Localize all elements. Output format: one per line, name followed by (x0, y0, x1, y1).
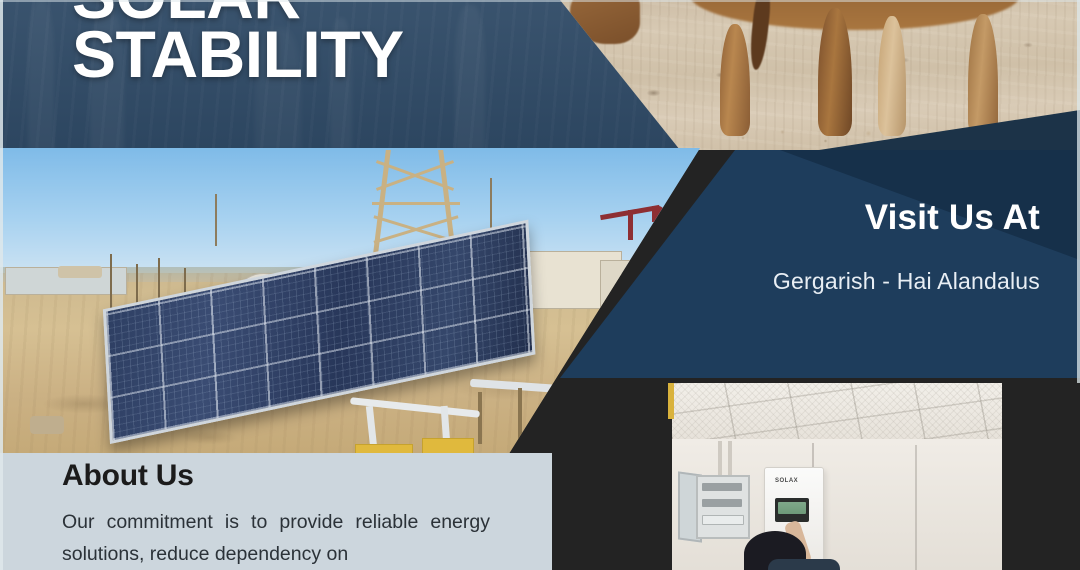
tower-brace (372, 202, 460, 205)
ground-debris (30, 416, 64, 434)
person-shoulders (768, 559, 840, 570)
frame-edge-top (0, 0, 1080, 2)
page-title: SOLAR STABILITY (72, 0, 404, 84)
wall-edge-line (915, 445, 917, 570)
visit-us-address: Gergarish - Hai Alandalus (773, 268, 1040, 295)
electrical-conduit (728, 441, 732, 477)
poster-canvas: Visit Us At Gergarish - Hai Alandalus Ab… (0, 0, 1080, 570)
panel-support-frame (350, 404, 490, 454)
inverter-display-screen (775, 498, 809, 522)
pumpjack-head (652, 206, 665, 222)
about-us-heading: About Us (62, 459, 194, 493)
visit-us-heading: Visit Us At (865, 198, 1040, 238)
ceiling-tiles (672, 383, 1002, 441)
oil-pumpjack (600, 200, 666, 240)
breaker-panel (696, 475, 750, 539)
fence-post (518, 388, 522, 440)
antenna-mast (215, 194, 217, 246)
banner-silhouette-shape (28, 0, 54, 150)
support-leg (366, 406, 377, 449)
about-us-body-text: Our commitment is to provide reliable en… (62, 506, 490, 570)
camel-leg-shape (968, 14, 998, 136)
title-line-2: STABILITY (72, 25, 404, 84)
breaker-row (702, 499, 742, 507)
yellow-accent-strip (668, 383, 674, 419)
breaker-row (702, 515, 744, 525)
pumpjack-post (628, 210, 633, 240)
breaker-row (702, 483, 742, 491)
inverter-brand-label: SOLAX (775, 478, 798, 484)
camel-leg-shape (818, 8, 852, 136)
ground-debris (58, 266, 102, 278)
camel-leg-shape (878, 16, 906, 136)
banner-silhouette-shape (455, 5, 485, 150)
frame-edge-left (0, 0, 3, 570)
electrical-conduit (718, 441, 722, 477)
indoor-inverter-photo: SOLAX (672, 383, 1002, 570)
